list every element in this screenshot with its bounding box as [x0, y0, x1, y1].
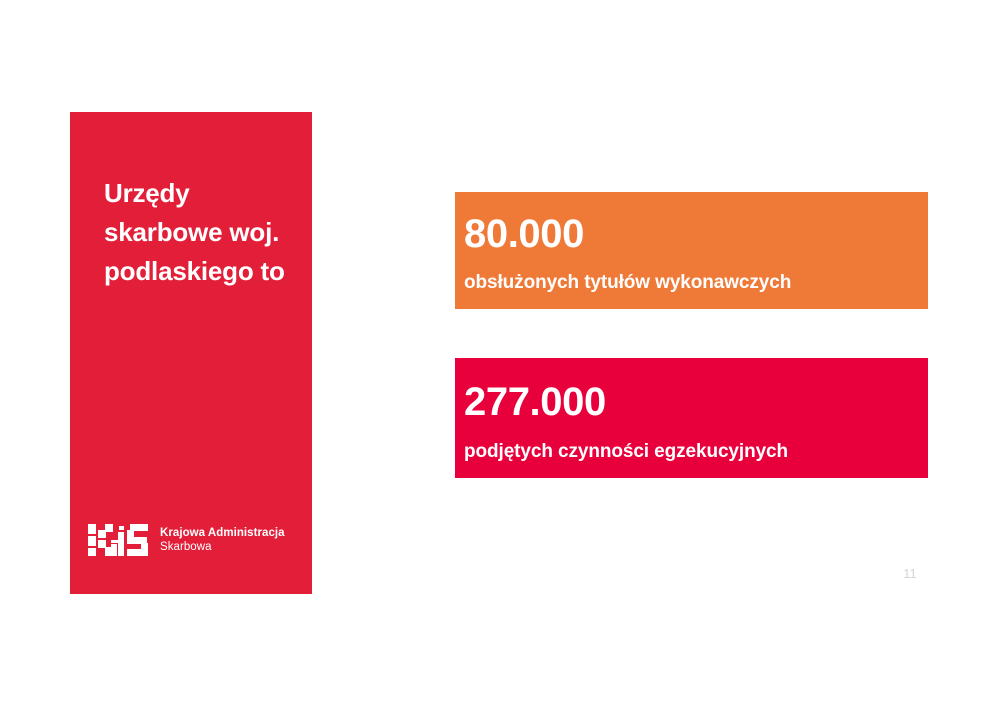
slide-canvas: Urzędy skarbowe woj. podlaskiego to: [0, 0, 1000, 708]
kas-logo-line-2: Skarbowa: [160, 541, 285, 555]
stat-value-orange: 80.000: [464, 192, 928, 254]
stat-box-crimson: 277.000 podjętych czynności egzekucyjnyc…: [455, 358, 928, 478]
stat-value-crimson: 277.000: [464, 358, 928, 422]
stat-box-orange: 80.000 obsłużonych tytułów wykonawczych: [455, 192, 928, 309]
kas-logo-text: Krajowa Administracja Skarbowa: [160, 527, 285, 554]
kas-logo-mark: [86, 518, 152, 564]
panel-title: Urzędy skarbowe woj. podlaskiego to: [104, 174, 304, 291]
kas-logo: Krajowa Administracja Skarbowa: [86, 518, 285, 564]
kas-logo-line-1: Krajowa Administracja: [160, 527, 285, 541]
stat-label-crimson: podjętych czynności egzekucyjnych: [464, 422, 928, 461]
page-number: 11: [898, 566, 922, 581]
stat-label-orange: obsłużonych tytułów wykonawczych: [464, 254, 928, 292]
left-red-panel: Urzędy skarbowe woj. podlaskiego to: [70, 112, 312, 594]
